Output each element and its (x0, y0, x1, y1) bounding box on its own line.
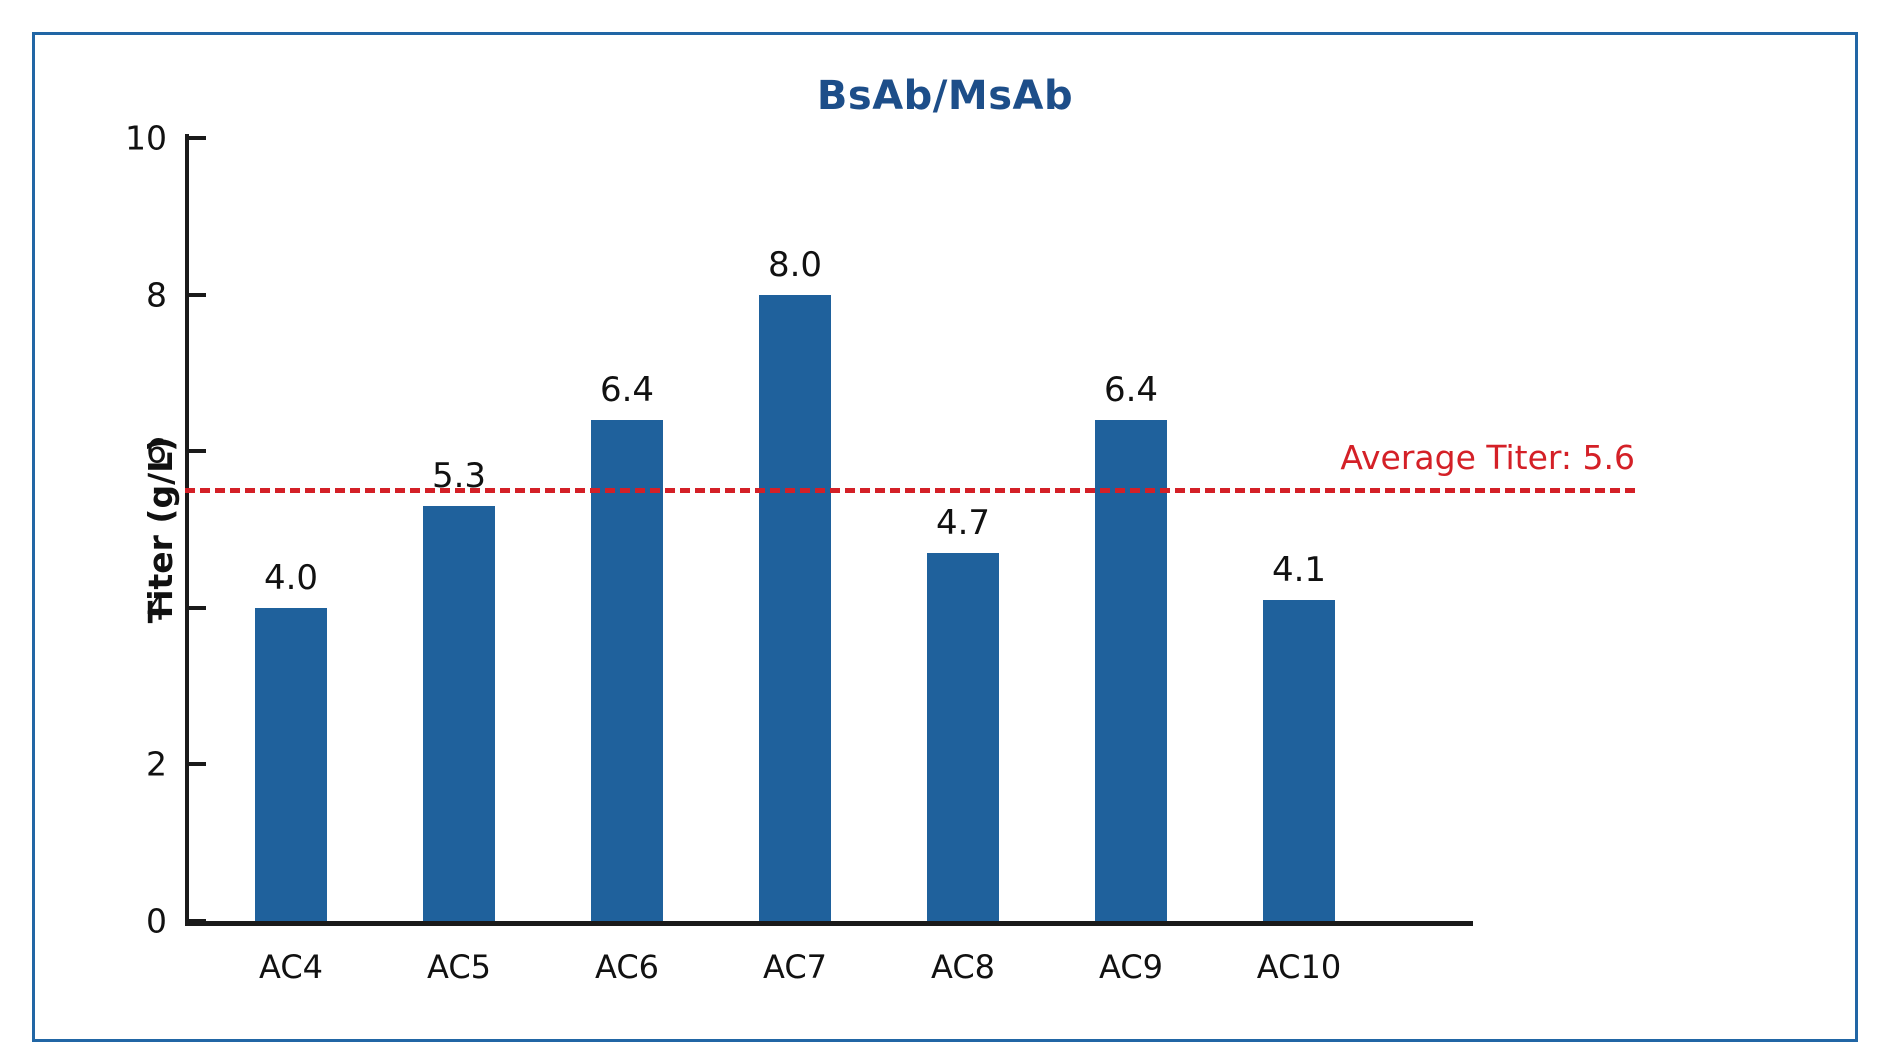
bar-group[interactable]: 4.0AC4 (207, 138, 375, 921)
y-axis-tick-mark (189, 449, 206, 453)
x-axis-category-label: AC8 (931, 948, 995, 986)
bar-value-label: 4.0 (264, 558, 318, 598)
y-axis-tick-label: 6 (146, 432, 167, 471)
bar[interactable] (1263, 600, 1335, 921)
bar-group[interactable]: 4.7AC8 (879, 138, 1047, 921)
y-axis-tick-mark (189, 919, 206, 923)
x-axis-category-label: AC9 (1099, 948, 1163, 986)
bar-value-label: 6.4 (600, 370, 654, 410)
y-axis-tick-label: 4 (146, 588, 167, 627)
average-titer-line (185, 488, 1635, 493)
bar-group[interactable]: 6.4AC6 (543, 138, 711, 921)
bar-value-label: 4.1 (1272, 550, 1326, 590)
y-axis-tick-mark (189, 762, 206, 766)
y-axis-tick-label: 0 (146, 902, 167, 941)
y-axis-tick-mark (189, 606, 206, 610)
y-axis-tick-label: 8 (146, 275, 167, 314)
plot-area: Titer (g/L) 0246810 4.0AC45.3AC56.4AC68.… (185, 138, 1635, 921)
x-axis-category-label: AC10 (1257, 948, 1341, 986)
bar-group[interactable]: 6.4AC9 (1047, 138, 1215, 921)
bar[interactable] (927, 553, 999, 921)
bar-value-label: 4.7 (936, 503, 990, 543)
bar[interactable] (255, 608, 327, 921)
x-axis-category-label: AC5 (427, 948, 491, 986)
chart-title: BsAb/MsAb (35, 73, 1855, 119)
bar-value-label: 8.0 (768, 245, 822, 285)
x-axis-category-label: AC7 (763, 948, 827, 986)
bar-group[interactable]: 4.1AC10 (1215, 138, 1383, 921)
x-axis-category-label: AC6 (595, 948, 659, 986)
x-axis-line (185, 921, 1473, 926)
y-axis-tick-label: 2 (146, 745, 167, 784)
y-axis-tick-label: 10 (125, 119, 167, 158)
bar[interactable] (1095, 420, 1167, 921)
bar-value-label: 6.4 (1104, 370, 1158, 410)
bar-group[interactable]: 5.3AC5 (375, 138, 543, 921)
x-axis-category-label: AC4 (259, 948, 323, 986)
bar[interactable] (591, 420, 663, 921)
y-axis-tick-mark (189, 293, 206, 297)
bar[interactable] (759, 295, 831, 921)
bar-group[interactable]: 8.0AC7 (711, 138, 879, 921)
average-titer-label: Average Titer: 5.6 (1340, 438, 1635, 477)
y-axis-tick-mark (189, 136, 206, 140)
y-axis-line (185, 134, 189, 925)
chart-frame: BsAb/MsAb Titer (g/L) 0246810 4.0AC45.3A… (32, 32, 1858, 1042)
chart-page: BsAb/MsAb Titer (g/L) 0246810 4.0AC45.3A… (0, 0, 1890, 1063)
bar[interactable] (423, 506, 495, 921)
